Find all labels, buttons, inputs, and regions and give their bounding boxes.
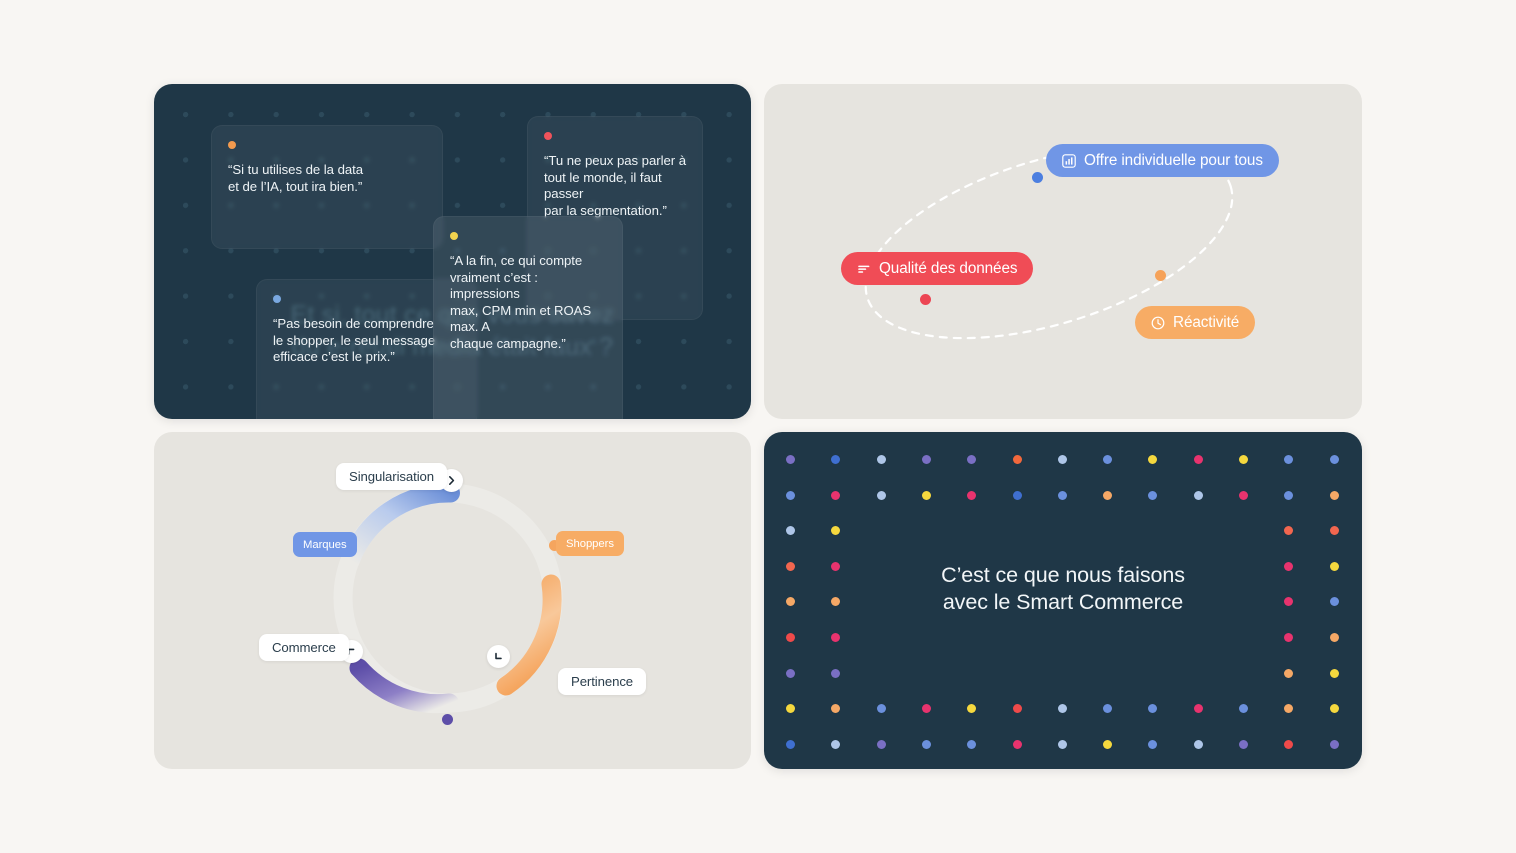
grid-dot	[967, 455, 976, 464]
grid-dot	[877, 704, 886, 713]
grid-dot	[1148, 491, 1157, 500]
orbit-panel: Offre individuelle pour tous Qualité des…	[764, 84, 1362, 419]
quote-text: “A la fin, ce qui compte vraiment c’est …	[450, 253, 608, 353]
grid-dot	[786, 669, 795, 678]
quote-text: “Tu ne peux pas parler à tout le monde, …	[544, 153, 688, 219]
grid-dot	[831, 740, 840, 749]
ring-label-text: Commerce	[272, 640, 336, 655]
ring-panel: Singularisation Commerce Pertinence Marq…	[154, 432, 751, 769]
filter-lines-icon	[857, 262, 871, 276]
ring-node-bottom	[442, 714, 453, 725]
grid-dot	[967, 740, 976, 749]
grid-dot	[1148, 455, 1157, 464]
ring-label-singularisation[interactable]: Singularisation	[336, 463, 447, 490]
grid-dot	[831, 455, 840, 464]
grid-dot	[1239, 455, 1248, 464]
grid-dot	[1058, 740, 1067, 749]
grid-dot	[786, 633, 795, 642]
ring-tag-marques[interactable]: Marques	[293, 532, 357, 557]
grid-dot	[1194, 740, 1203, 749]
grid-dot	[1103, 740, 1112, 749]
grid-dot	[786, 455, 795, 464]
grid-dot	[1194, 704, 1203, 713]
pill-reactivite[interactable]: Réactivité	[1135, 306, 1255, 339]
ring-tag-text: Marques	[303, 539, 347, 551]
ring-tag-text: Shoppers	[566, 538, 614, 550]
orange-dot	[228, 141, 236, 149]
grid-dot	[1330, 455, 1339, 464]
ring-label-text: Pertinence	[571, 674, 633, 689]
ring-tag-shoppers[interactable]: Shoppers	[556, 531, 624, 556]
grid-dot	[922, 704, 931, 713]
grid-dot	[922, 740, 931, 749]
pill-label: Offre individuelle pour tous	[1084, 152, 1263, 170]
grid-dot	[1103, 455, 1112, 464]
grid-dot	[1330, 633, 1339, 642]
quotes-panel: Et si, tout ce que vous savez du e-retai…	[154, 84, 751, 419]
grid-dot	[1058, 704, 1067, 713]
grid-dot	[967, 704, 976, 713]
blue-dot	[273, 295, 281, 303]
bar-chart-icon	[1062, 154, 1076, 168]
grid-dot	[1284, 526, 1293, 535]
grid-dot	[831, 491, 840, 500]
grid-dot	[1239, 740, 1248, 749]
grid-dot	[1013, 704, 1022, 713]
pill-qualite-des-donnees[interactable]: Qualité des données	[841, 252, 1033, 285]
slide-board: Et si, tout ce que vous savez du e-retai…	[0, 0, 1516, 853]
arrow-elbow-down-icon[interactable]	[487, 645, 510, 668]
grid-dot	[922, 455, 931, 464]
yellow-dot	[450, 232, 458, 240]
grid-dot	[1239, 491, 1248, 500]
grid-dot	[786, 491, 795, 500]
grid-dot	[1103, 704, 1112, 713]
ring-label-text: Singularisation	[349, 469, 434, 484]
grid-dot	[786, 740, 795, 749]
grid-dot	[877, 491, 886, 500]
grid-dot	[1284, 704, 1293, 713]
grid-dot	[831, 526, 840, 535]
pill-offre-individuelle[interactable]: Offre individuelle pour tous	[1046, 144, 1279, 177]
grid-dot	[831, 669, 840, 678]
grid-dot	[1330, 740, 1339, 749]
grid-dot	[1284, 740, 1293, 749]
quote-card[interactable]: “A la fin, ce qui compte vraiment c’est …	[433, 216, 623, 419]
orbit-node-blue	[1032, 172, 1043, 183]
grid-dot	[1148, 704, 1157, 713]
grid-dot	[1148, 740, 1157, 749]
grid-dot	[922, 491, 931, 500]
grid-dot	[1013, 455, 1022, 464]
grid-dot	[786, 704, 795, 713]
quote-card[interactable]: “Si tu utilises de la data et de l’IA, t…	[211, 125, 443, 249]
grid-dot	[1058, 455, 1067, 464]
grid-dot	[831, 633, 840, 642]
grid-dot	[1330, 704, 1339, 713]
orbit-node-red	[920, 294, 931, 305]
grid-dot	[877, 740, 886, 749]
orbit-node-orange	[1155, 270, 1166, 281]
grid-dot	[1194, 491, 1203, 500]
grid-dot	[1330, 526, 1339, 535]
grid-dot	[1284, 633, 1293, 642]
panel-headline: C’est ce que nous faisons avec le Smart …	[764, 562, 1362, 616]
grid-dot	[1284, 491, 1293, 500]
grid-dot	[1013, 740, 1022, 749]
grid-dot	[1194, 455, 1203, 464]
red-dot	[544, 132, 552, 140]
grid-dot	[1239, 704, 1248, 713]
pill-label: Qualité des données	[879, 260, 1017, 278]
grid-dot	[1103, 491, 1112, 500]
grid-dot	[831, 704, 840, 713]
grid-dot	[1013, 491, 1022, 500]
pill-label: Réactivité	[1173, 314, 1239, 332]
grid-dot	[786, 526, 795, 535]
ring-label-pertinence[interactable]: Pertinence	[558, 668, 646, 695]
grid-dot	[1284, 669, 1293, 678]
grid-dot	[877, 455, 886, 464]
grid-dot	[967, 491, 976, 500]
grid-dot	[1058, 491, 1067, 500]
ring-label-commerce[interactable]: Commerce	[259, 634, 349, 661]
clock-icon	[1151, 316, 1165, 330]
quote-text: “Si tu utilises de la data et de l’IA, t…	[228, 162, 428, 195]
grid-dot	[1284, 455, 1293, 464]
grid-dot	[1330, 491, 1339, 500]
grid-dot	[1330, 669, 1339, 678]
smart-commerce-panel: C’est ce que nous faisons avec le Smart …	[764, 432, 1362, 769]
